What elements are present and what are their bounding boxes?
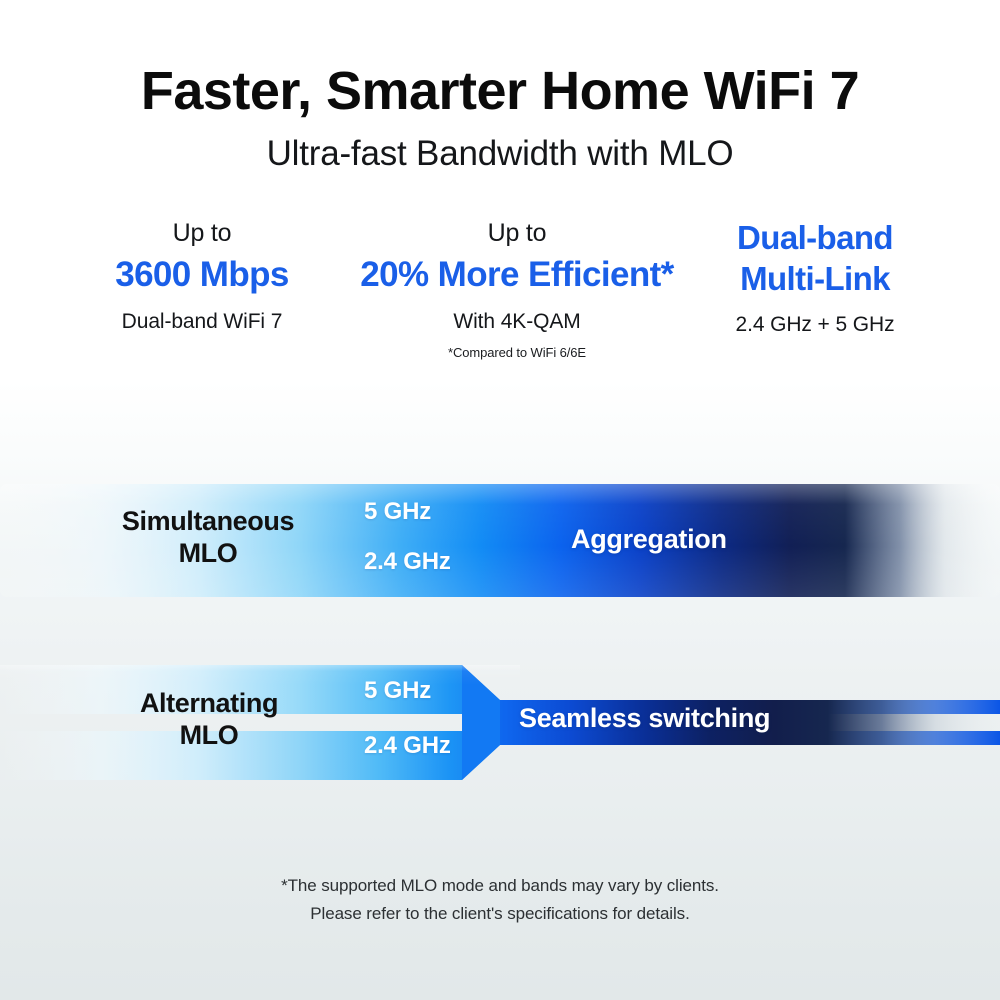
header: Faster, Smarter Home WiFi 7 Ultra-fast B… [0, 0, 1000, 174]
footnote-line-1: *The supported MLO mode and bands may va… [0, 872, 1000, 900]
stat-description: 2.4 GHz + 5 GHz [682, 313, 948, 337]
infographic-page: Faster, Smarter Home WiFi 7 Ultra-fast B… [0, 0, 1000, 1000]
stat-card-bandwidth: Up to 3600 Mbps Dual-band WiFi 7 [52, 218, 352, 333]
stat-card-efficiency: Up to 20% More Efficient* With 4K-QAM *C… [352, 218, 682, 359]
simultaneous-band-graphic [0, 470, 1000, 615]
stat-description: Dual-band WiFi 7 [52, 310, 352, 334]
stat-prefix: Up to [52, 218, 352, 248]
page-title: Faster, Smarter Home WiFi 7 [0, 62, 1000, 120]
diagram-alternating-mlo: Alternating MLO 5 GHz 2.4 GHz Seamless s… [0, 650, 1000, 795]
stat-value: 20% More Efficient* [352, 254, 682, 295]
page-subtitle: Ultra-fast Bandwidth with MLO [0, 134, 1000, 174]
stat-footnote: *Compared to WiFi 6/6E [352, 345, 682, 360]
alternating-band-graphic [0, 650, 1000, 795]
stats-row: Up to 3600 Mbps Dual-band WiFi 7 Up to 2… [0, 218, 1000, 359]
stat-description: With 4K-QAM [352, 310, 682, 334]
stat-card-multilink: Dual-band Multi-Link 2.4 GHz + 5 GHz [682, 218, 948, 337]
stat-value: 3600 Mbps [52, 254, 352, 295]
footnote-line-2: Please refer to the client's specificati… [0, 900, 1000, 928]
stat-prefix: Up to [352, 218, 682, 248]
diagram-simultaneous-mlo: Simultaneous MLO 5 GHz 2.4 GHz Aggregati… [0, 470, 1000, 615]
stat-value-line2: Multi-Link [682, 259, 948, 299]
stat-value-line1: Dual-band [682, 218, 948, 258]
footnote: *The supported MLO mode and bands may va… [0, 872, 1000, 928]
